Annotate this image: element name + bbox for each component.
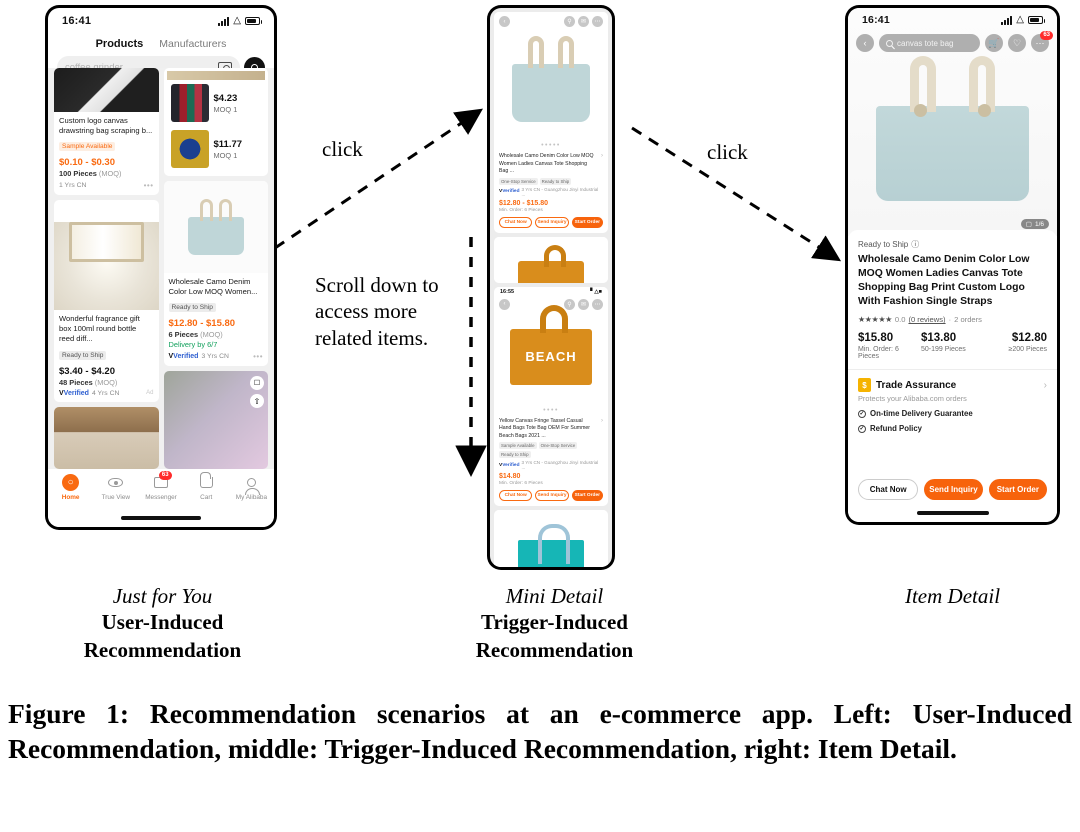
ready-to-ship-row: Ready to Ship ⓘ — [858, 239, 1047, 250]
annotation-scroll-down: Scroll down to access more related items… — [315, 272, 463, 351]
mini-card-body: › Yellow Canvas Fringe Tassel Casual Han… — [494, 417, 608, 507]
verified-badge-icon: VVerified — [499, 463, 520, 468]
verified-label: Verified — [502, 463, 519, 468]
supplier-info: 1 Yrs CN — [59, 182, 86, 189]
product-title: Wholesale Camo Denim Color Low MOQ Women… — [169, 277, 264, 296]
product-card[interactable]: ☐ ⇧ — [164, 371, 269, 469]
verified-badge-icon: VVerified — [59, 390, 89, 397]
sample-available-badge: Sample Available — [59, 142, 115, 151]
signal-icon — [1001, 16, 1012, 25]
mini-price: $14.80 — [499, 473, 603, 480]
wifi-icon: △ — [1016, 15, 1024, 25]
list-item-moq: MOQ 1 — [214, 151, 243, 160]
tag: Ready to Ship — [499, 451, 531, 458]
nav-label: Cart — [200, 494, 212, 501]
send-inquiry-button[interactable]: Send Inquiry — [924, 479, 982, 500]
image-counter-badge: ▢ 1/6 — [1021, 219, 1049, 229]
caption-italic: Item Detail — [840, 584, 1065, 609]
tag: Sample Available — [499, 442, 537, 449]
product-image — [164, 181, 269, 273]
status-icons: △ — [218, 16, 260, 26]
mini-top-bar: ‹ ⚲ ✉ ⋯ — [494, 295, 608, 314]
mini-top-actions: ⚲ ✉ ⋯ — [564, 16, 603, 27]
status-time: 16:41 — [862, 14, 890, 26]
list-item[interactable]: $4.23 MOQ 1 — [167, 80, 266, 126]
product-thumbnail — [171, 84, 209, 122]
nav-label: True View — [102, 494, 130, 501]
product-price: $0.10 - $0.30 — [59, 157, 154, 168]
mini-price: $12.80 - $15.80 — [499, 200, 603, 207]
price-tier: $13.80 50-199 Pieces — [921, 332, 984, 360]
ad-label: Ad — [146, 390, 153, 396]
more-dots-icon[interactable]: ••• — [144, 181, 154, 190]
mini-product-image: 16:55 ▘△■ BEACH ‹ ⚲ ✉ ⋯ — [494, 287, 608, 405]
chat-now-button[interactable]: Chat Now — [499, 217, 532, 228]
supplier-row: VVerified 3 Yrs CN ••• — [169, 352, 264, 361]
caption-right: Item Detail — [840, 584, 1065, 609]
tier-label: 50-199 Pieces — [921, 346, 984, 353]
verified-badge-icon: VVerified — [169, 353, 199, 360]
status-icons: △ — [1001, 15, 1043, 25]
left-product-feed[interactable]: Custom logo canvas drawstring bag scrapi… — [48, 68, 274, 469]
product-card-body: Wonderful fragrance gift box 100ml round… — [54, 310, 159, 401]
supplier-info: 3 Yrs CN - Guangzhou Jinyi Industrial ..… — [522, 460, 603, 470]
tab-manufacturers[interactable]: Manufacturers — [159, 38, 226, 50]
product-image — [54, 68, 159, 112]
product-card[interactable] — [54, 407, 159, 469]
caption-italic: Just for You — [45, 584, 280, 609]
caption-left: Just for You User-Induced Recommendation — [45, 584, 280, 664]
nav-item-home[interactable]: ○ Home — [48, 474, 93, 527]
divider — [848, 369, 1057, 370]
orders-count: 2 orders — [954, 315, 982, 324]
supplier-row: VVerified 4 Yrs CN Ad — [59, 390, 154, 397]
supplier-info: 3 Yrs CN - Guangzhou Jinyi Industrial ..… — [522, 187, 603, 197]
home-indicator — [917, 511, 989, 515]
search-icon — [886, 40, 893, 47]
product-card[interactable]: Custom logo canvas drawstring bag scrapi… — [54, 68, 159, 195]
trade-assurance-title: Trade Assurance — [876, 380, 956, 391]
home-icon: ○ — [62, 474, 79, 491]
search-value: canvas tote bag — [897, 39, 953, 48]
list-item[interactable]: $11.77 MOQ 1 — [167, 126, 266, 172]
product-moq: 6 Pieces (MOQ) — [169, 330, 264, 339]
mini-product-title: Yellow Canvas Fringe Tassel Casual Hand … — [499, 418, 603, 441]
mini-product-title: Wholesale Camo Denim Color Low MOQ Women… — [499, 153, 603, 176]
chevron-right-icon[interactable]: › — [601, 418, 603, 424]
list-item-price: $11.77 — [214, 139, 243, 150]
tag: One-Stop Service — [539, 442, 578, 449]
message-icon[interactable]: ✉ — [578, 16, 589, 27]
left-phone-mockup: 16:41 △ Products Manufacturers coffee gr… — [45, 5, 277, 530]
person-icon — [243, 474, 260, 491]
heart-icon[interactable]: ♡ — [1008, 34, 1026, 52]
product-thumbnail — [171, 130, 209, 168]
left-status-bar: 16:41 △ — [48, 8, 274, 34]
moq-value: 48 Pieces — [59, 378, 93, 387]
verified-label: Verified — [173, 353, 198, 360]
moq-value: 100 Pieces — [59, 169, 97, 178]
middle-phone-mockup: ‹ ⚲ ✉ ⋯ ••••• › Wholesale Camo Denim Col… — [487, 5, 615, 570]
notification-badge: 63 — [1040, 31, 1053, 40]
mini-product-image — [494, 237, 608, 283]
more-dots-icon[interactable]: ⋯ 63 — [1031, 34, 1049, 52]
price-tier: $12.80 ≥200 Pieces — [984, 332, 1047, 360]
mini-moq: Min. Order: 6 Pieces — [499, 208, 603, 213]
mini-detail-card-partial[interactable] — [494, 510, 608, 567]
tier-price: $12.80 — [984, 332, 1047, 344]
tag: One-Stop Service — [499, 178, 538, 185]
chevron-right-icon[interactable]: › — [601, 153, 603, 159]
cart-icon — [198, 474, 215, 491]
guarantee-item: ✓ On-time Delivery Guarantee — [858, 409, 1047, 418]
product-card-body: Custom logo canvas drawstring bag scrapi… — [54, 112, 159, 195]
start-order-button[interactable]: Start Order — [572, 217, 603, 228]
caption-italic: Mini Detail — [437, 584, 672, 609]
mini-tags: Sample Available One-Stop Service Ready … — [499, 442, 603, 458]
mini-product-image — [494, 510, 608, 567]
send-inquiry-button[interactable]: Send Inquiry — [535, 490, 568, 501]
info-icon[interactable]: ⓘ — [911, 239, 919, 250]
back-chevron-icon[interactable]: ‹ — [499, 299, 510, 310]
nav-item-my-alibaba[interactable]: My Alibaba — [229, 474, 274, 527]
search-icon[interactable]: ⚲ — [564, 16, 575, 27]
back-chevron-icon[interactable]: ‹ — [856, 34, 874, 52]
product-price: $12.80 - $15.80 — [169, 318, 264, 329]
caption-middle: Mini Detail Trigger-Induced Recommendati… — [437, 584, 672, 664]
tier-label: Min. Order: 6 Pieces — [858, 346, 921, 360]
mini-card-body: › Wholesale Camo Denim Color Low MOQ Wom… — [494, 152, 608, 233]
right-phone-screen: ▢ 1/6 16:41 △ ‹ canvas tote bag 🛒 — [848, 8, 1057, 522]
right-action-buttons: Chat Now Send Inquiry Start Order — [848, 479, 1057, 500]
shield-gold-icon: $ — [858, 378, 871, 392]
guarantee-label: Refund Policy — [870, 424, 922, 433]
delivery-estimate: Delivery by 6/7 — [169, 340, 264, 349]
mini-action-buttons: Chat Now Send Inquiry Start Order — [499, 490, 603, 501]
mini-detail-card[interactable]: 16:55 ▘△■ BEACH ‹ ⚲ ✉ ⋯ •••• — [494, 287, 608, 507]
more-dots-icon[interactable]: ⋯ — [592, 299, 603, 310]
middle-phone-screen[interactable]: ‹ ⚲ ✉ ⋯ ••••• › Wholesale Camo Denim Col… — [490, 8, 612, 567]
annotation-click-right: click — [707, 140, 748, 165]
trade-assurance-subtitle: Protects your Alibaba.com orders — [858, 394, 1047, 403]
arrow-left-to-mid — [275, 112, 478, 248]
product-card-body: Wholesale Camo Denim Color Low MOQ Women… — [164, 273, 269, 366]
price-tier: $15.80 Min. Order: 6 Pieces — [858, 332, 921, 360]
star-rating-icon: ★★★★★ — [858, 315, 892, 324]
rating-row: ★★★★★ 0.0 (0 reviews) · 2 orders — [858, 315, 1047, 324]
battery-icon — [1028, 16, 1043, 24]
tier-price: $13.80 — [921, 332, 984, 344]
signal-icon — [218, 17, 229, 26]
eye-icon — [107, 474, 124, 491]
image-dots-indicator: •••• — [494, 405, 608, 417]
caption-bold-1: User-Induced — [45, 609, 280, 637]
send-inquiry-button[interactable]: Send Inquiry — [535, 217, 568, 228]
trade-assurance-row[interactable]: $ Trade Assurance › — [858, 378, 1047, 392]
rating-score: 0.0 — [895, 315, 906, 324]
message-icon[interactable]: ✉ — [578, 299, 589, 310]
start-order-button[interactable]: Start Order — [989, 479, 1047, 500]
nav-label: My Alibaba — [236, 494, 267, 501]
mini-supplier-row: VVerified 3 Yrs CN - Guangzhou Jinyi Ind… — [499, 187, 603, 197]
guarantee-label: On-time Delivery Guarantee — [870, 409, 973, 418]
figure-root: 16:41 △ Products Manufacturers coffee gr… — [0, 0, 1080, 832]
left-tab-bar: Products Manufacturers — [48, 34, 274, 56]
nav-label: Home — [62, 494, 80, 501]
verified-label: Verified — [502, 189, 519, 194]
more-dots-icon[interactable]: ⋯ — [592, 16, 603, 27]
list-item-price: $4.23 — [214, 93, 238, 104]
tag: Ready to Ship — [540, 178, 572, 185]
product-image — [54, 407, 159, 469]
chat-now-button[interactable]: Chat Now — [858, 479, 918, 500]
small-product-list[interactable]: $4.23 MOQ 1 $11.77 MOQ 1 — [164, 68, 269, 176]
ready-to-ship-label: Ready to Ship — [858, 240, 908, 249]
list-item-moq: MOQ 1 — [214, 105, 238, 114]
search-input[interactable]: canvas tote bag — [879, 34, 980, 52]
verified-badge-icon: VVerified — [499, 189, 520, 194]
mini-detail-card-partial[interactable] — [494, 237, 608, 283]
image-dots-indicator: ••••• — [494, 140, 608, 152]
chat-now-button[interactable]: Chat Now — [499, 490, 532, 501]
mini-tags: One-Stop Service Ready to Ship — [499, 178, 603, 185]
product-moq: 48 Pieces (MOQ) — [59, 378, 154, 387]
rating-separator: · — [949, 315, 952, 324]
image-counter-value: 1/6 — [1035, 221, 1044, 228]
right-top-bar: ‹ canvas tote bag 🛒 ♡ ⋯ 63 — [848, 34, 1057, 52]
moq-value: 6 Pieces — [169, 330, 199, 339]
cart-icon[interactable]: 🛒 — [985, 34, 1003, 52]
nav-label: Messenger — [145, 494, 177, 501]
figure-caption: Figure 1: Recommendation scenarios at an… — [0, 696, 1080, 766]
check-circle-icon: ✓ — [858, 425, 866, 433]
tab-products[interactable]: Products — [96, 38, 144, 50]
right-status-bar: 16:41 △ — [848, 8, 1057, 32]
ready-to-ship-badge: Ready to Ship — [59, 351, 106, 360]
battery-icon — [245, 17, 260, 25]
caption-bold-2: Recommendation — [45, 637, 280, 665]
product-card[interactable]: Wonderful fragrance gift box 100ml round… — [54, 200, 159, 401]
guarantee-item: ✓ Refund Policy — [858, 424, 1047, 433]
product-image — [54, 222, 159, 310]
supplier-info: 4 Yrs CN — [92, 390, 119, 397]
wifi-icon: △ — [233, 16, 241, 26]
left-phone-screen: 16:41 △ Products Manufacturers coffee gr… — [48, 8, 274, 527]
ready-to-ship-badge: Ready to Ship — [169, 303, 216, 312]
list-top-image — [167, 71, 266, 80]
mini-action-buttons: Chat Now Send Inquiry Start Order — [499, 217, 603, 228]
mini-top-bar: ‹ ⚲ ✉ ⋯ — [494, 12, 608, 31]
tier-price: $15.80 — [858, 332, 921, 344]
mini-supplier-row: VVerified 3 Yrs CN - Guangzhou Jinyi Ind… — [499, 460, 603, 470]
mini-detail-card[interactable]: ‹ ⚲ ✉ ⋯ ••••• › Wholesale Camo Denim Col… — [494, 12, 608, 233]
product-title: Custom logo canvas drawstring bag scrapi… — [59, 116, 154, 135]
price-tier-table: $15.80 Min. Order: 6 Pieces $13.80 50-19… — [858, 332, 1047, 360]
verified-label: Verified — [64, 390, 89, 397]
status-time: 16:41 — [62, 15, 91, 27]
mini-product-image: ‹ ⚲ ✉ ⋯ — [494, 12, 608, 140]
product-moq: 100 Pieces (MOQ) — [59, 169, 154, 178]
tier-label: ≥200 Pieces — [984, 346, 1047, 353]
check-circle-icon: ✓ — [858, 410, 866, 418]
feed-column-left: Custom logo canvas drawstring bag scrapi… — [54, 68, 159, 469]
supplier-row: 1 Yrs CN ••• — [59, 181, 154, 190]
product-card[interactable]: Wholesale Camo Denim Color Low MOQ Women… — [164, 181, 269, 366]
home-indicator — [121, 516, 201, 520]
annotation-click-left: click — [322, 137, 363, 162]
caption-bold-1: Trigger-Induced — [437, 609, 672, 637]
back-chevron-icon[interactable]: ‹ — [499, 16, 510, 27]
caption-bold-2: Recommendation — [437, 637, 672, 665]
reviews-link[interactable]: (0 reviews) — [908, 315, 945, 324]
product-title: Wholesale Camo Denim Color Low MOQ Women… — [858, 253, 1047, 309]
right-phone-mockup: ▢ 1/6 16:41 △ ‹ canvas tote bag 🛒 — [845, 5, 1060, 525]
start-order-button[interactable]: Start Order — [572, 490, 603, 501]
search-icon[interactable]: ⚲ — [564, 299, 575, 310]
mini-moq: Min. Order: 6 Pieces — [499, 481, 603, 486]
product-price: $3.40 - $4.20 — [59, 366, 154, 377]
moq-suffix: (MOQ) — [200, 330, 223, 339]
feed-column-right: $4.23 MOQ 1 $11.77 MOQ 1 — [164, 68, 269, 469]
messenger-badge: 63 — [159, 471, 172, 480]
moq-suffix: (MOQ) — [99, 169, 122, 178]
product-title: Wonderful fragrance gift box 100ml round… — [59, 314, 154, 343]
chevron-right-icon[interactable]: › — [1044, 380, 1047, 391]
mini-top-actions: ⚲ ✉ ⋯ — [564, 299, 603, 310]
moq-suffix: (MOQ) — [95, 378, 118, 387]
supplier-info: 3 Yrs CN — [201, 353, 228, 360]
gallery-icon: ▢ — [1026, 220, 1032, 228]
more-dots-icon[interactable]: ••• — [253, 352, 263, 361]
